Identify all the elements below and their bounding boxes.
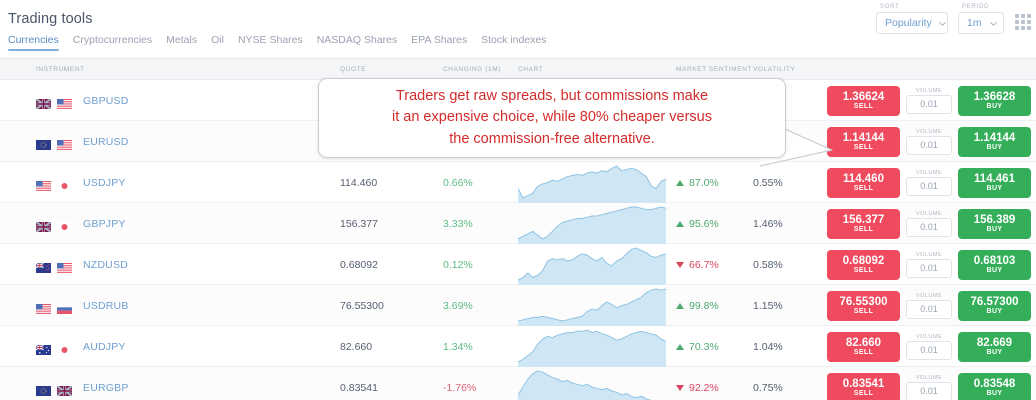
- instrument-symbol: GBPUSD: [83, 95, 129, 107]
- volatility-cell: 1.15%: [753, 285, 783, 326]
- buy-button[interactable]: 1.14144BUY: [958, 127, 1031, 157]
- table-row[interactable]: NZDUSD0.680920.12%66.7%0.58%0.68092SELLV…: [0, 244, 1036, 285]
- sentiment-value: 66.7%: [689, 259, 719, 271]
- volume-control: VOLUME: [906, 293, 952, 319]
- tab-oil[interactable]: Oil: [211, 34, 238, 51]
- column-header-quote: QUOTE: [340, 66, 366, 73]
- sell-button[interactable]: 1.36624SELL: [827, 86, 900, 116]
- sell-price: 1.36624: [843, 91, 885, 103]
- market-sentiment-cell: 99.8%: [676, 285, 719, 326]
- volume-control: VOLUME: [906, 129, 952, 155]
- sentiment-arrow-icon: [676, 385, 684, 391]
- flag-pair: [36, 260, 72, 270]
- market-sentiment-cell: 87.0%: [676, 162, 719, 203]
- sort-control: SORT Popularity: [876, 4, 948, 34]
- instrument-cell: EURUSD: [36, 121, 129, 162]
- volume-control: VOLUME: [906, 375, 952, 400]
- sell-price: 76.55300: [840, 296, 888, 308]
- sell-button[interactable]: 82.660SELL: [827, 332, 900, 362]
- flag-nz-icon: [36, 260, 51, 270]
- sentiment-value: 87.0%: [689, 177, 719, 189]
- instrument-cell: USDRUB: [36, 285, 129, 326]
- sell-button[interactable]: 156.377SELL: [827, 209, 900, 239]
- instrument-symbol: AUDJPY: [83, 341, 126, 353]
- market-sentiment-cell: 95.6%: [676, 203, 719, 244]
- volume-input[interactable]: [906, 341, 952, 360]
- volume-label: VOLUME: [916, 211, 942, 217]
- trade-controls: 76.55300SELLVOLUME76.57300BUY: [827, 285, 1031, 326]
- instrument-symbol: EURGBP: [83, 382, 129, 394]
- tab-nasdaq-shares[interactable]: NASDAQ Shares: [317, 34, 412, 51]
- sell-button[interactable]: 76.55300SELL: [827, 291, 900, 321]
- sparkline-chart: [518, 367, 666, 400]
- sell-price: 1.14144: [843, 132, 885, 144]
- instrument-symbol: EURUSD: [83, 136, 129, 148]
- flag-pair: [36, 342, 72, 352]
- sparkline-chart: [518, 203, 666, 244]
- flag-jp-icon: [57, 219, 72, 229]
- column-header-volatility: VOLATILITY: [753, 66, 795, 73]
- flag-pair: [36, 137, 72, 147]
- trade-controls: 1.14144SELLVOLUME1.14144BUY: [827, 121, 1031, 162]
- table-header: INSTRUMENT QUOTE CHANGING (1M) CHART MAR…: [0, 58, 1036, 80]
- column-header-instrument: INSTRUMENT: [36, 66, 85, 73]
- sell-label: SELL: [854, 226, 874, 233]
- buy-button[interactable]: 82.669BUY: [958, 332, 1031, 362]
- trading-tools-app: Trading tools CurrenciesCryptocurrencies…: [0, 0, 1036, 400]
- callout-box: Traders get raw spreads, but commissions…: [318, 78, 786, 158]
- trade-controls: 0.68092SELLVOLUME0.68103BUY: [827, 244, 1031, 285]
- instrument-symbol: USDJPY: [83, 177, 126, 189]
- flag-au-icon: [36, 342, 51, 352]
- buy-label: BUY: [987, 349, 1003, 356]
- buy-button[interactable]: 114.461BUY: [958, 168, 1031, 198]
- instrument-symbol: NZDUSD: [83, 259, 128, 271]
- buy-label: BUY: [987, 390, 1003, 397]
- instrument-symbol: USDRUB: [83, 300, 129, 312]
- buy-price: 1.14144: [974, 132, 1016, 144]
- change-cell: 1.34%: [443, 326, 473, 367]
- sort-value: Popularity: [885, 17, 932, 29]
- quote-cell: 114.460: [340, 162, 377, 203]
- instrument-cell: NZDUSD: [36, 244, 128, 285]
- period-label: PERIOD: [962, 4, 1004, 10]
- buy-label: BUY: [987, 308, 1003, 315]
- sell-label: SELL: [854, 390, 874, 397]
- table-row[interactable]: EURGBP0.83541-1.76%92.2%0.75%0.83541SELL…: [0, 367, 1036, 400]
- buy-price: 82.669: [977, 337, 1012, 349]
- table-row[interactable]: USDJPY114.4600.66%87.0%0.55%114.460SELLV…: [0, 162, 1036, 203]
- trade-controls: 114.460SELLVOLUME114.461BUY: [827, 162, 1031, 203]
- sentiment-value: 99.8%: [689, 300, 719, 312]
- sell-label: SELL: [854, 144, 874, 151]
- sparkline-chart: [518, 285, 666, 326]
- callout-line-1: Traders get raw spreads, but commissions…: [392, 86, 712, 107]
- quote-cell: 76.55300: [340, 285, 384, 326]
- change-cell: 0.12%: [443, 244, 473, 285]
- volume-label: VOLUME: [916, 170, 942, 176]
- column-header-changing: CHANGING (1M): [443, 66, 501, 73]
- buy-label: BUY: [987, 185, 1003, 192]
- volume-control: VOLUME: [906, 88, 952, 114]
- volume-input[interactable]: [906, 136, 952, 155]
- sparkline-chart: [518, 326, 666, 367]
- volatility-cell: 0.55%: [753, 162, 783, 203]
- sell-label: SELL: [854, 349, 874, 356]
- change-cell: 3.33%: [443, 203, 473, 244]
- chevron-down-icon: [989, 19, 998, 28]
- header-controls: SORT Popularity PERIOD 1m: [876, 4, 1032, 34]
- sell-label: SELL: [854, 267, 874, 274]
- buy-label: BUY: [987, 226, 1003, 233]
- volume-control: VOLUME: [906, 334, 952, 360]
- volume-label: VOLUME: [916, 375, 942, 381]
- flag-us-icon: [57, 137, 72, 147]
- buy-button[interactable]: 1.36628BUY: [958, 86, 1031, 116]
- buy-label: BUY: [987, 103, 1003, 110]
- flag-gb-icon: [36, 96, 51, 106]
- sentiment-value: 95.6%: [689, 218, 719, 230]
- volatility-cell: 1.04%: [753, 326, 783, 367]
- sparkline-chart: [518, 162, 666, 203]
- sell-label: SELL: [854, 308, 874, 315]
- flag-jp-icon: [57, 342, 72, 352]
- volume-input[interactable]: [906, 218, 952, 237]
- quote-cell: 0.83541: [340, 367, 378, 400]
- buy-price: 1.36628: [974, 91, 1016, 103]
- tab-currencies[interactable]: Currencies: [8, 34, 73, 51]
- grid-view-icon[interactable]: [1014, 13, 1032, 31]
- volume-input[interactable]: [906, 95, 952, 114]
- volatility-cell: 0.75%: [753, 367, 783, 400]
- instrument-cell: USDJPY: [36, 162, 126, 203]
- volume-input[interactable]: [906, 259, 952, 278]
- callout-line-2: it an expensive choice, while 80% cheape…: [392, 107, 712, 128]
- buy-price: 0.83548: [974, 378, 1016, 390]
- sell-price: 0.83541: [843, 378, 885, 390]
- quote-cell: 82.660: [340, 326, 372, 367]
- sort-select[interactable]: Popularity: [876, 12, 948, 34]
- volume-label: VOLUME: [916, 129, 942, 135]
- callout-text: Traders get raw spreads, but commissions…: [392, 86, 712, 149]
- buy-price: 114.461: [974, 173, 1015, 185]
- tab-metals[interactable]: Metals: [166, 34, 211, 51]
- trade-controls: 82.660SELLVOLUME82.669BUY: [827, 326, 1031, 367]
- page-header: Trading tools CurrenciesCryptocurrencies…: [0, 0, 1036, 58]
- sell-button[interactable]: 0.83541SELL: [827, 373, 900, 400]
- change-cell: 0.66%: [443, 162, 473, 203]
- sell-price: 114.460: [843, 173, 884, 185]
- flag-gb-icon: [36, 219, 51, 229]
- buy-button[interactable]: 0.83548BUY: [958, 373, 1031, 400]
- sentiment-arrow-icon: [676, 303, 684, 309]
- sentiment-value: 92.2%: [689, 382, 719, 394]
- buy-label: BUY: [987, 144, 1003, 151]
- market-sentiment-cell: 92.2%: [676, 367, 719, 400]
- period-select[interactable]: 1m: [958, 12, 1004, 34]
- column-header-chart: CHART: [518, 66, 543, 73]
- instrument-cell: EURGBP: [36, 367, 129, 400]
- flag-pair: [36, 301, 72, 311]
- instrument-cell: AUDJPY: [36, 326, 126, 367]
- volume-input[interactable]: [906, 300, 952, 319]
- quote-cell: 0.68092: [340, 244, 378, 285]
- volume-control: VOLUME: [906, 252, 952, 278]
- table-row[interactable]: AUDJPY82.6601.34%70.3%1.04%82.660SELLVOL…: [0, 326, 1036, 367]
- market-sentiment-cell: 66.7%: [676, 244, 719, 285]
- instrument-cell: GBPUSD: [36, 80, 129, 121]
- volume-input[interactable]: [906, 177, 952, 196]
- callout-annotation: Traders get raw spreads, but commissions…: [318, 78, 786, 158]
- flag-pair: [36, 219, 72, 229]
- tab-epa-shares[interactable]: EPA Shares: [411, 34, 481, 51]
- flag-jp-icon: [57, 178, 72, 188]
- volatility-cell: 0.58%: [753, 244, 783, 285]
- buy-label: BUY: [987, 267, 1003, 274]
- tab-nyse-shares[interactable]: NYSE Shares: [238, 34, 317, 51]
- chevron-down-icon: [938, 19, 947, 28]
- sentiment-arrow-icon: [676, 221, 684, 227]
- change-cell: 3.69%: [443, 285, 473, 326]
- sell-label: SELL: [854, 103, 874, 110]
- sentiment-arrow-icon: [676, 344, 684, 350]
- column-header-market-sentiment: MARKET SENTIMENT: [676, 66, 752, 73]
- volume-control: VOLUME: [906, 170, 952, 196]
- sentiment-arrow-icon: [676, 180, 684, 186]
- sell-price: 156.377: [843, 214, 885, 226]
- table-row[interactable]: USDRUB76.553003.69%99.8%1.15%76.55300SEL…: [0, 285, 1036, 326]
- volatility-cell: 1.46%: [753, 203, 783, 244]
- flag-ru-icon: [57, 301, 72, 311]
- sell-button[interactable]: 0.68092SELL: [827, 250, 900, 280]
- trade-controls: 1.36624SELLVOLUME1.36628BUY: [827, 80, 1031, 121]
- sell-label: SELL: [854, 185, 874, 192]
- sell-price: 82.660: [846, 337, 881, 349]
- volume-label: VOLUME: [916, 88, 942, 94]
- tab-stock-indexes[interactable]: Stock indexes: [481, 34, 560, 51]
- volume-control: VOLUME: [906, 211, 952, 237]
- volume-label: VOLUME: [916, 293, 942, 299]
- tab-cryptocurrencies[interactable]: Cryptocurrencies: [73, 34, 166, 51]
- flag-pair: [36, 178, 72, 188]
- buy-button[interactable]: 156.389BUY: [958, 209, 1031, 239]
- trade-controls: 0.83541SELLVOLUME0.83548BUY: [827, 367, 1031, 400]
- flag-us-icon: [36, 301, 51, 311]
- market-sentiment-cell: 70.3%: [676, 326, 719, 367]
- flag-pair: [36, 383, 72, 393]
- instrument-cell: GBPJPY: [36, 203, 126, 244]
- sparkline-chart: [518, 244, 666, 285]
- change-cell: -1.76%: [443, 367, 476, 400]
- buy-price: 76.57300: [971, 296, 1019, 308]
- page-title: Trading tools: [8, 11, 93, 27]
- category-tabs: CurrenciesCryptocurrenciesMetalsOilNYSE …: [8, 34, 560, 51]
- sell-price: 0.68092: [843, 255, 885, 267]
- flag-pair: [36, 96, 72, 106]
- flag-us-icon: [57, 260, 72, 270]
- buy-button[interactable]: 76.57300BUY: [958, 291, 1031, 321]
- sell-button[interactable]: 114.460SELL: [827, 168, 900, 198]
- volume-label: VOLUME: [916, 252, 942, 258]
- volume-input[interactable]: [906, 382, 952, 400]
- quote-cell: 156.377: [340, 203, 378, 244]
- flag-us-icon: [57, 96, 72, 106]
- table-row[interactable]: GBPJPY156.3773.33%95.6%1.46%156.377SELLV…: [0, 203, 1036, 244]
- buy-price: 156.389: [974, 214, 1016, 226]
- instrument-symbol: GBPJPY: [83, 218, 126, 230]
- flag-eu-icon: [36, 137, 51, 147]
- trade-controls: 156.377SELLVOLUME156.389BUY: [827, 203, 1031, 244]
- period-value: 1m: [967, 17, 982, 29]
- sort-label: SORT: [880, 4, 948, 10]
- sentiment-arrow-icon: [676, 262, 684, 268]
- volume-label: VOLUME: [916, 334, 942, 340]
- flag-eu-icon: [36, 383, 51, 393]
- flag-gb-icon: [57, 383, 72, 393]
- buy-button[interactable]: 0.68103BUY: [958, 250, 1031, 280]
- period-control: PERIOD 1m: [958, 4, 1004, 34]
- sentiment-value: 70.3%: [689, 341, 719, 353]
- flag-us-icon: [36, 178, 51, 188]
- buy-price: 0.68103: [974, 255, 1016, 267]
- callout-line-3: the commission-free alternative.: [392, 129, 712, 150]
